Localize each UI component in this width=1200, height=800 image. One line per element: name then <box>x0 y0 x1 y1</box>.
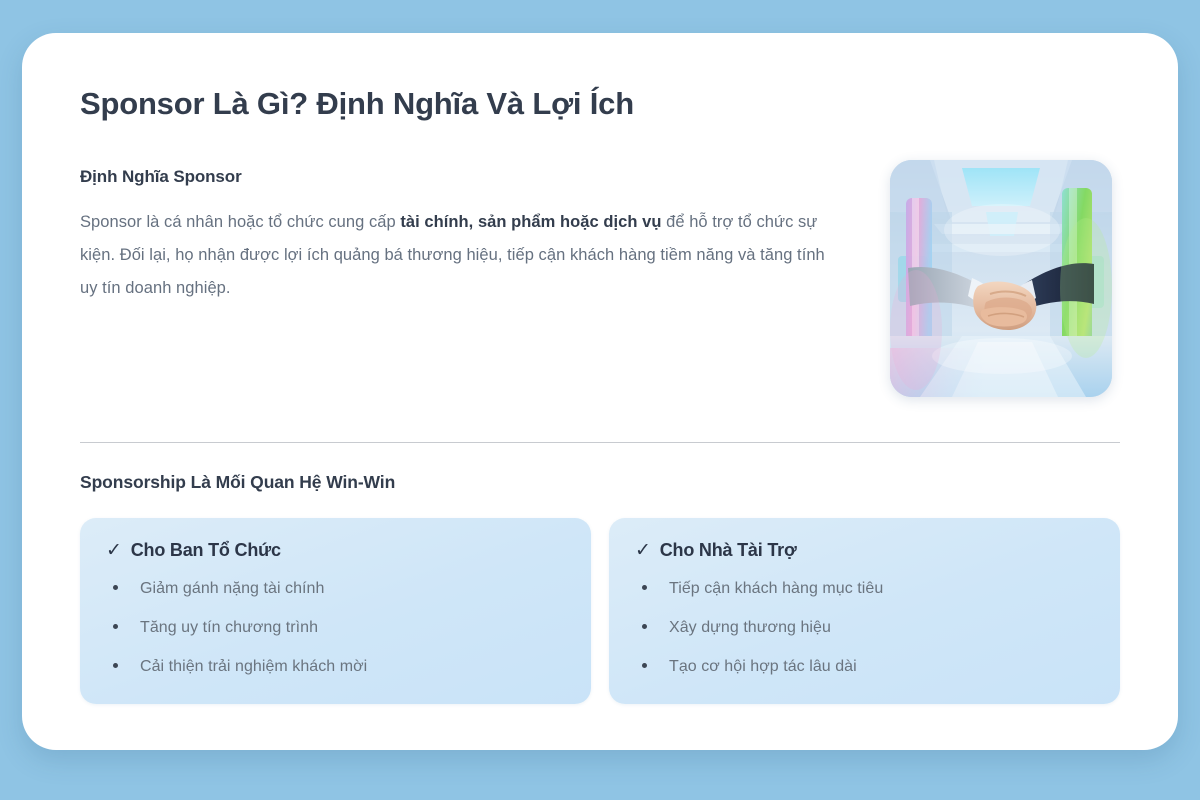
benefit-card-sponsor: ✓ Cho Nhà Tài Trợ Tiếp cận khách hàng mụ… <box>609 518 1120 705</box>
list-item: Giảm gánh nặng tài chính <box>106 577 565 600</box>
benefit-card-title: Cho Nhà Tài Trợ <box>660 540 797 561</box>
list-item: Tạo cơ hội hợp tác lâu dài <box>635 655 1094 678</box>
check-icon: ✓ <box>106 541 122 560</box>
bullet-dot-icon <box>113 663 118 668</box>
paragraph-text-lead: Sponsor là cá nhân hoặc tổ chức cung cấp <box>80 213 400 231</box>
definition-paragraph: Sponsor là cá nhân hoặc tổ chức cung cấp… <box>80 206 845 305</box>
list-item-label: Tăng uy tín chương trình <box>140 619 318 636</box>
bullet-dot-icon <box>642 624 647 629</box>
section-divider <box>80 442 1120 443</box>
bullet-dot-icon <box>113 624 118 629</box>
page-background: Sponsor Là Gì? Định Nghĩa Và Lợi Ích Địn… <box>0 0 1200 800</box>
benefit-card-header: ✓ Cho Ban Tổ Chức <box>106 540 565 561</box>
list-item-label: Giảm gánh nặng tài chính <box>140 580 324 597</box>
bullet-dot-icon <box>113 585 118 590</box>
handshake-illustration <box>890 160 1112 397</box>
bullet-dot-icon <box>642 663 647 668</box>
list-item-label: Xây dựng thương hiệu <box>669 619 831 636</box>
benefit-list: Tiếp cận khách hàng mục tiêu Xây dựng th… <box>635 577 1094 679</box>
list-item: Tiếp cận khách hàng mục tiêu <box>635 577 1094 600</box>
list-item: Xây dựng thương hiệu <box>635 616 1094 639</box>
definition-text-column: Định Nghĩa Sponsor Sponsor là cá nhân ho… <box>80 160 850 305</box>
list-item: Tăng uy tín chương trình <box>106 616 565 639</box>
benefit-card-grid: ✓ Cho Ban Tổ Chức Giảm gánh nặng tài chí… <box>80 518 1120 705</box>
benefit-card-organizer: ✓ Cho Ban Tổ Chức Giảm gánh nặng tài chí… <box>80 518 591 705</box>
illustration-wrapper <box>890 160 1112 397</box>
list-item-label: Cải thiện trải nghiệm khách mời <box>140 658 367 675</box>
bullet-dot-icon <box>642 585 647 590</box>
paragraph-bold-phrase: tài chính, sản phẩm hoặc dịch vụ <box>400 213 661 231</box>
definition-section: Định Nghĩa Sponsor Sponsor là cá nhân ho… <box>80 160 1120 397</box>
definition-subtitle: Định Nghĩa Sponsor <box>80 167 850 187</box>
winwin-heading: Sponsorship Là Mối Quan Hệ Win-Win <box>80 472 1120 493</box>
benefit-card-header: ✓ Cho Nhà Tài Trợ <box>635 540 1094 561</box>
list-item-label: Tiếp cận khách hàng mục tiêu <box>669 580 883 597</box>
list-item-label: Tạo cơ hội hợp tác lâu dài <box>669 658 857 675</box>
page-title: Sponsor Là Gì? Định Nghĩa Và Lợi Ích <box>80 85 1120 124</box>
content-card: Sponsor Là Gì? Định Nghĩa Và Lợi Ích Địn… <box>22 33 1178 750</box>
benefit-card-title: Cho Ban Tổ Chức <box>131 540 281 561</box>
list-item: Cải thiện trải nghiệm khách mời <box>106 655 565 678</box>
check-icon: ✓ <box>635 541 651 560</box>
benefit-list: Giảm gánh nặng tài chính Tăng uy tín chư… <box>106 577 565 679</box>
